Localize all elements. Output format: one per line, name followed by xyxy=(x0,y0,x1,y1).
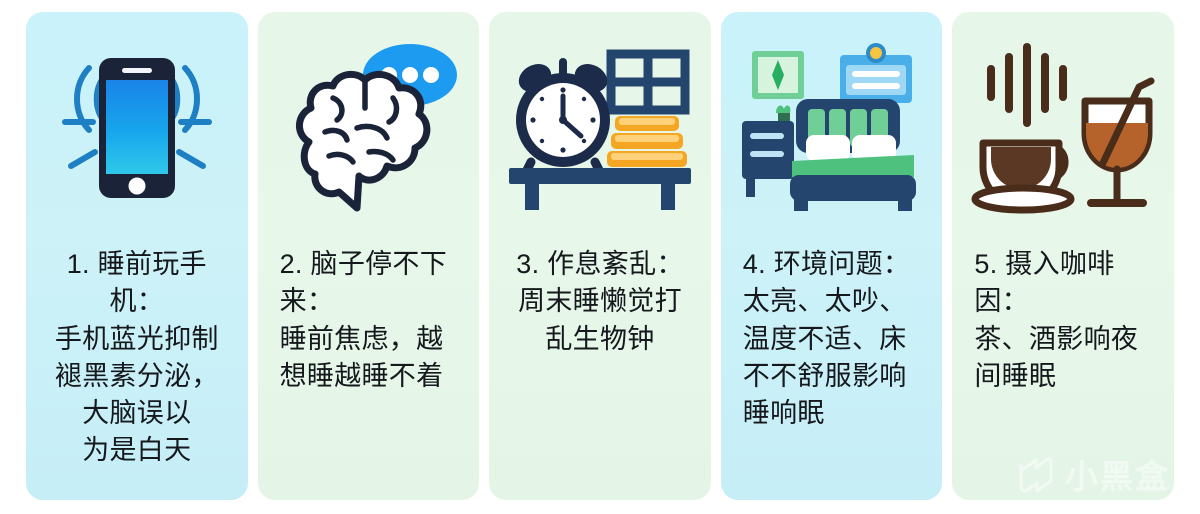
card-2-brain[interactable]: 2. 脑子停不下 来： 睡前焦虑，越 想睡越睡不着 xyxy=(258,12,480,500)
alarm-clock-shelf-icon xyxy=(489,12,711,244)
nightstand-icon xyxy=(742,106,794,197)
card-2-text: 2. 脑子停不下 来： 睡前焦虑，越 想睡越睡不着 xyxy=(258,246,480,395)
card-5-caffeine[interactable]: 5. 摄入咖啡因： 茶、酒影响夜 间睡眠 xyxy=(952,12,1174,500)
coffee-cup-icon xyxy=(975,143,1071,210)
shelf-icon xyxy=(509,168,691,210)
cards-board: 1. 睡前玩手机： 手机蓝光抑制 褪黑素分泌， 大脑误以 为是白天 xyxy=(0,0,1200,514)
books-icon xyxy=(607,116,687,167)
bed-icon xyxy=(790,99,916,211)
card-4-environment[interactable]: 4. 环境问题： 太亮、太吵、 温度不适、床 不不舒服影响 睡响眠 xyxy=(721,12,943,500)
card-4-text: 4. 环境问题： 太亮、太吵、 温度不适、床 不不舒服影响 睡响眠 xyxy=(721,246,943,432)
coffee-drink-icon xyxy=(952,12,1174,244)
bedroom-icon xyxy=(721,12,943,244)
cocktail-glass-icon xyxy=(1085,81,1151,203)
card-3-text: 3. 作息紊乱： 周末睡懒觉打 乱生物钟 xyxy=(489,246,711,358)
card-1-text: 1. 睡前玩手机： 手机蓝光抑制 褪黑素分泌， 大脑误以 为是白天 xyxy=(26,246,248,470)
brain-thinking-icon xyxy=(258,12,480,244)
card-1-phone[interactable]: 1. 睡前玩手机： 手机蓝光抑制 褪黑素分泌， 大脑误以 为是白天 xyxy=(26,12,248,500)
wall-board-icon xyxy=(840,43,912,103)
alarm-clock-icon xyxy=(514,58,612,178)
wall-picture-icon xyxy=(752,51,804,99)
card-3-schedule[interactable]: 3. 作息紊乱： 周末睡懒觉打 乱生物钟 xyxy=(489,12,711,500)
card-5-text: 5. 摄入咖啡因： 茶、酒影响夜 间睡眠 xyxy=(952,246,1174,395)
smartphone-icon xyxy=(26,12,248,244)
window-icon xyxy=(611,54,685,110)
steam-icon xyxy=(991,47,1063,123)
